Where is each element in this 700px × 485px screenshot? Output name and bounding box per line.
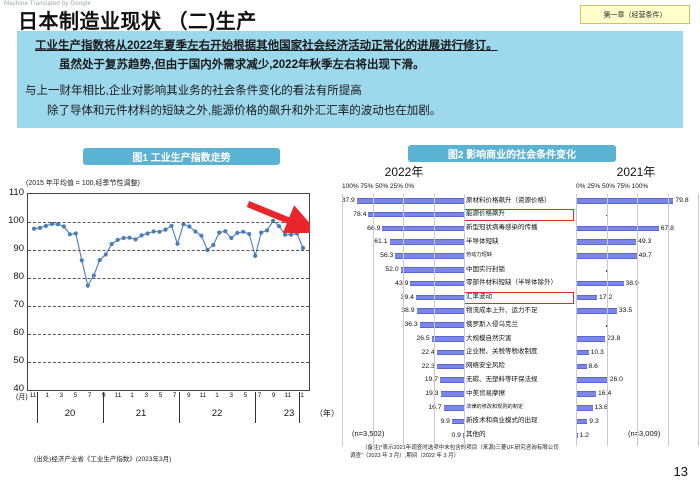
figure2-n-right: (n=3,009) [628,429,660,438]
figure2-source-line-2: 调查”（2023 年 3 月）,期间（2022 年 3 月） [350,452,662,460]
gridline [28,250,309,251]
bar-segment [452,419,464,425]
figure1-year-unit: （年） [315,408,339,419]
figure2-row: 52.0中国实行封锁 [340,263,700,277]
bar-value-label: 0.9 [451,433,460,440]
bar-segment [416,295,464,301]
figure1-source: (出处)经济产业省《工业生产指数》(2023年3月) [34,453,171,463]
category-label: 原材料价格飙升（资源价格） [466,198,551,205]
category-label: 零部件材料短缺（半导体除外） [466,280,557,287]
category-cell: 无碳、无塑料等环保法规 [466,373,574,387]
figure2-row: 38.9物流成本上升、运力不足33.5 [340,304,700,318]
slide-root: Machine Translated by Google 日本制造业现状 （二)… [0,0,700,485]
bar-segment [432,336,464,342]
y-tick-label: 80 [0,271,24,282]
v-gridline [464,194,465,446]
category-cell: 法律的修改和规则的制定 [466,401,574,415]
figure2-row: 22.3网络安全风险8.6 [340,360,700,374]
summary-line-3: 与上一财年相比,企业对影响其业务的社会条件变化的看法有所提高 [25,85,362,98]
bar-segment [395,253,464,259]
figure2-scale-left: 100% 75% 50% 25% 0% [342,183,414,190]
category-cell: 零部件材料短缺（半导体除外） [466,277,574,291]
bar-value-label: 9.9 [440,419,449,426]
y-tick-label: 110 [0,187,24,198]
bar-segment [576,226,659,232]
month-tick-label: 5 [74,392,78,399]
gridline [28,334,309,335]
category-label: 物流成本上升、运力不足 [466,308,538,315]
bar-segment [576,377,608,383]
summary-line-2: 虽然处于复苏趋势,但由于国内外需求减少,2022年秋季左右将出现下滑。 [59,59,424,72]
month-tick-label: 7 [88,392,92,399]
bar-segment [382,226,464,232]
watermark-text: Machine Translated by Google [4,1,91,7]
figure2-title: 图2 影响商业的社会条件变化 [408,145,616,162]
month-tick-label: 5 [159,392,163,399]
bar-segment [576,364,587,370]
v-gridline [637,194,638,446]
bar-segment [576,350,589,356]
y-tick-label: 90 [0,243,24,254]
bar-value-label: 16.4 [598,391,611,398]
month-tick-label: 3 [59,392,63,399]
figure2-row: 87.9原材料价格飙升（资源价格）79.8 [340,194,700,208]
bar-value-label: 87.9 [342,198,355,205]
month-tick-label: 11 [30,392,37,399]
year-tick-label: 20 [65,408,76,419]
y-tick-label: 100 [0,215,24,226]
chapter-badge: 第一章（经营条件） [580,5,690,24]
category-label: 俄罗斯入侵乌克兰 [466,322,518,329]
figure2-source: （备注)*表示2021年调查时选项中未包含的项目（来源)三菱UF,研究咨询有限公… [362,444,662,461]
bar-segment [576,336,605,342]
figure2-row: 39.4汇率波动17.2 [340,291,700,305]
category-label: 新技术和商业模式的出现 [466,418,538,425]
gridline [28,306,309,307]
year-tick-label: 22 [212,408,223,419]
year-separator [255,392,256,423]
gridline [28,278,309,279]
category-label: 无碳、无塑料等环保法规 [466,377,538,384]
month-tick-label: 1 [215,392,219,399]
bar-segment [576,281,624,287]
category-label: 网络安全风险 [466,363,505,370]
bar-value-label: 1.2 [580,433,589,440]
category-cell: 新技术和商业模式的出现 [466,415,574,429]
bar-value-label: 36.3 [404,322,417,329]
figure2-row: 22.4企业税、关税等税收制度10.3 [340,346,700,360]
highlight-box [464,292,574,304]
bar-value-label: 19.3 [425,391,438,398]
figure2-row: 56.3劳动力短缺49.7 [340,249,700,263]
month-tick-label: 3 [144,392,148,399]
figure1-line-chart: (2015 年平均值 = 100,经季节性调整) 405060708090100… [0,176,340,466]
y-tick-label: 60 [0,327,24,338]
y-tick-label: 70 [0,299,24,310]
bar-value-label: 8.6 [589,364,598,371]
bar-segment [437,364,464,370]
summary-box: 工业生产指数将从2022年夏季左右开始根据其他国家社会经济活动正常化的进展进行修… [17,31,683,128]
figure2-year-left: 2022年 [385,163,424,180]
figure2-rows: 87.9原材料价格飙升（资源价格）79.878.4能源价格飙升66.9新型冠状病… [340,194,700,442]
bar-value-label: 49.3 [638,239,651,246]
year-separator [37,392,38,423]
bar-segment [390,239,465,245]
category-cell: 中国实行封锁 [466,263,574,277]
month-tick-label: 3 [229,392,233,399]
category-cell: 物流成本上升、运力不足 [466,304,574,318]
bar-segment [576,295,597,301]
bar-value-label: 78.4 [353,212,366,219]
month-tick-label: 7 [258,392,262,399]
figure2-row: 19.3中美贸易摩擦16.4 [340,387,700,401]
category-cell: 大规模自然灾害 [466,332,574,346]
category-label: 法律的修改和规则的制定 [466,405,523,410]
category-label: 大规模自然灾害 [466,336,512,343]
bar-segment [417,308,465,314]
figure2-row: 66.9新型冠状病毒感染的传播67.8 [340,222,700,236]
bar-value-label: 79.8 [675,198,688,205]
page-number: 13 [674,464,688,479]
bar-segment [576,405,593,411]
bar-value-label: 26.5 [416,336,429,343]
bar-value-label: 9.3 [589,419,598,426]
figure1-x-axis: (月) （年） 11135791113579111357911120212223 [27,392,310,437]
y-tick-label: 50 [0,355,24,366]
month-tick-label: 1 [300,392,304,399]
category-cell: 劳动力短缺 [466,249,574,263]
category-cell: 原材料价格飙升（资源价格） [466,194,574,208]
bar-value-label: 52.0 [385,267,398,274]
page-title: 日本制造业现状 （二)生产 [18,5,257,34]
bar-value-label: 26.0 [610,377,623,384]
category-label: 新型冠状病毒感染的传播 [466,225,538,232]
bar-segment [440,377,464,383]
month-tick-label: 9 [187,392,191,399]
bar-segment [420,322,464,328]
summary-line-1: 工业生产指数将从2022年夏季左右开始根据其他国家社会经济活动正常化的进展进行修… [35,40,498,53]
figure2-row: 61.1半导体短缺49.3 [340,235,700,249]
v-gridline [698,194,699,446]
month-tick-label: 1 [45,392,49,399]
bar-segment [576,419,587,425]
month-tick-label: 11 [200,392,207,399]
category-label: 中美贸易摩擦 [466,391,505,398]
v-gridline [576,194,577,446]
bar-value-label: 43.9 [395,281,408,288]
category-label: 中国实行封锁 [466,267,505,274]
bar-segment [576,198,673,204]
month-tick-label: 11 [115,392,122,399]
bar-segment [441,391,465,397]
bar-value-label: 16.7 [428,405,441,412]
figure2-year-right: 2021年 [617,163,656,180]
bar-segment [576,308,617,314]
figure2-row: 16.7法律的修改和规则的制定13.6 [340,401,700,415]
category-cell: 俄罗斯入侵乌克兰 [466,318,574,332]
v-gridline [607,194,608,446]
category-cell: 中美贸易摩擦 [466,387,574,401]
bar-segment [437,350,464,356]
red-down-arrow-icon [244,199,310,233]
category-cell: 网络安全风险 [466,360,574,374]
v-gridline [373,194,374,446]
figure2-paired-bar-chart: 2022年 2021年 100% 75% 50% 25% 0% 0% 25% 5… [340,163,700,485]
bar-value-label: 61.1 [374,239,387,246]
summary-line-4: 除了导体和元件材料的短缺之外,能源价格的飙升和外汇汇率的波动也在加剧。 [47,105,441,118]
month-tick-label: 11 [284,392,291,399]
bar-value-label: 56.3 [380,253,393,260]
category-label: 劳动力短缺 [466,253,492,258]
gridline [28,362,309,363]
month-tick-label: 1 [130,392,134,399]
year-separator [299,392,300,423]
year-tick-label: 21 [136,408,147,419]
year-tick-label: 23 [284,408,295,419]
figure2-row: 78.4能源价格飙升 [340,208,700,222]
month-tick-label: 9 [272,392,276,399]
category-cell: 半导体短缺 [466,235,574,249]
bar-segment [401,267,464,273]
v-gridline [403,194,404,446]
v-gridline [434,194,435,446]
category-cell: 新型冠状病毒感染的传播 [466,222,574,236]
bar-segment [576,391,596,397]
category-cell: 其他的 [466,429,574,443]
figure2-scale-right: 0% 25% 50% 75% 100% [576,183,648,190]
figure2-row: 43.9零部件材料短缺（半导体除外）38.9 [340,277,700,291]
figure2-source-line-1: （备注)*表示2021年调查时选项中未包含的项目（来源)三菱UF,研究咨询有限公… [362,444,662,452]
bar-value-label: 66.9 [367,226,380,233]
figure2-n-left: (n=3,502) [352,429,384,438]
month-tick-label: 7 [173,392,177,399]
bar-segment [444,405,464,411]
figure1-title: 图1 工业生产指数走势 [83,148,280,165]
category-label: 企业税、关税等税收制度 [466,349,538,356]
figure2-row: 26.5大规模自然灾害23.8 [340,332,700,346]
category-label: 其他的 [466,432,486,439]
bar-value-label: 19.7 [425,377,438,384]
bar-value-label: 23.8 [607,336,620,343]
year-separator [103,392,104,423]
v-gridline [668,194,669,446]
figure1-month-unit: (月) [16,392,28,402]
month-tick-label: 5 [244,392,248,399]
bar-value-label: 10.3 [591,350,604,357]
figure2-row: 9.9新技术和商业模式的出现9.3 [340,415,700,429]
bar-segment [410,281,464,287]
bar-value-label: 49.7 [639,253,652,260]
category-cell: 企业税、关税等税收制度 [466,346,574,360]
category-label: 半导体短缺 [466,239,499,246]
bar-segment [368,212,464,218]
highlight-box [464,209,574,221]
figure2-row: 19.7无碳、无塑料等环保法规26.0 [340,373,700,387]
figure2-row: 36.3俄罗斯入侵乌克兰 [340,318,700,332]
bar-value-label: 33.5 [619,308,632,315]
v-gridline [342,194,343,446]
year-separator [179,392,180,423]
